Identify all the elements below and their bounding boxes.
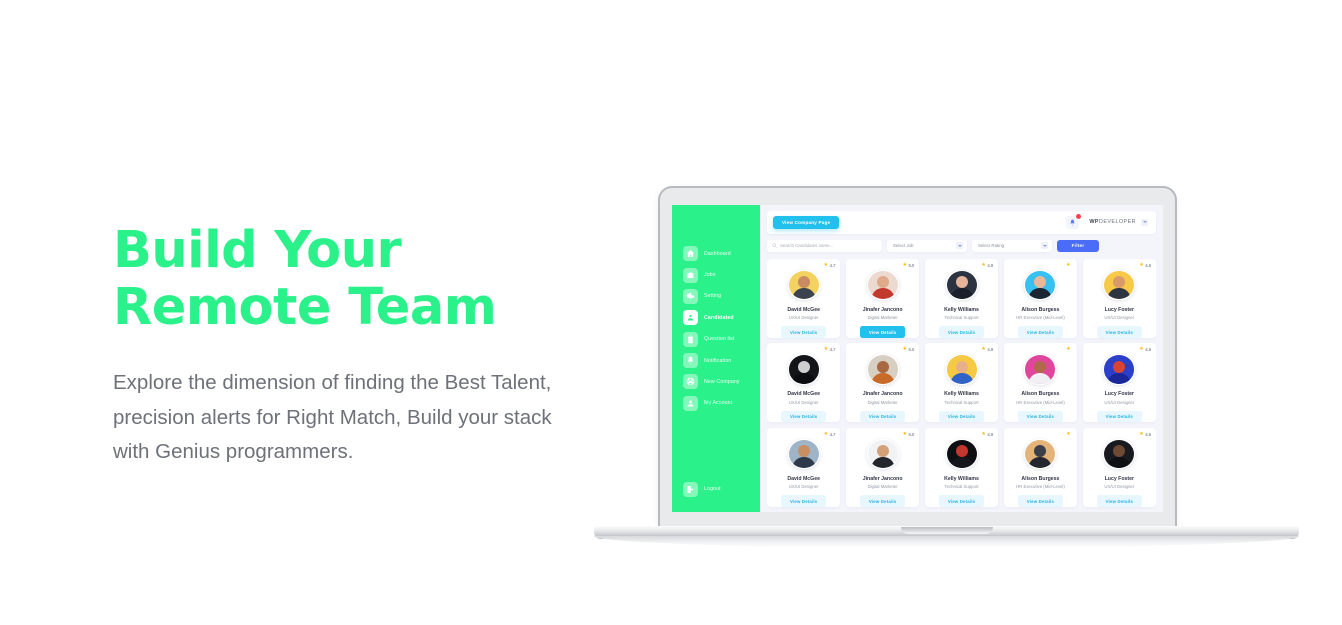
avatar xyxy=(788,270,820,300)
hero-section: Build Your Remote Team Explore the dimen… xyxy=(0,0,1342,625)
sidebar-item-notification[interactable]: Notification xyxy=(672,350,760,371)
topbar: View Company Page WPDEVELOPER xyxy=(767,211,1156,234)
notification-badge xyxy=(1075,213,1082,220)
user-menu[interactable]: WPDEVELOPER xyxy=(1089,219,1136,225)
candidate-role: UX/UI Designer xyxy=(789,400,819,405)
star-icon: ★ xyxy=(1139,347,1143,352)
candidate-name: David McGee xyxy=(787,307,820,313)
rating-badge: ★4.9 xyxy=(981,263,993,268)
candidate-card[interactable]: ★4.9Kelly WilliamsTechnical SupportView … xyxy=(925,259,998,338)
sidebar-item-new-company[interactable]: New Company xyxy=(672,371,760,392)
candidate-row: ★4.7David McGeeUX/UI DesignerView Detail… xyxy=(767,343,1156,422)
select-rating-value: Select Rating xyxy=(978,243,1004,248)
candidate-name: Lucy Foster xyxy=(1105,476,1134,482)
candidate-card[interactable]: ★4.9Kelly WilliamsTechnical SupportView … xyxy=(925,343,998,422)
rating-badge: ★ xyxy=(1066,432,1072,437)
rating-badge: ★5.0 xyxy=(903,347,915,352)
star-icon: ★ xyxy=(824,347,828,352)
sidebar-item-label: Jobs xyxy=(704,272,716,278)
avatar xyxy=(788,439,820,469)
candidate-card[interactable]: ★4.7David McGeeUX/UI DesignerView Detail… xyxy=(767,428,840,507)
rating-value: 4.9 xyxy=(987,263,993,268)
sidebar-item-setting[interactable]: Setting xyxy=(672,286,760,307)
candidate-card[interactable]: ★4.7David McGeeUX/UI DesignerView Detail… xyxy=(767,343,840,422)
bell-icon xyxy=(683,353,698,368)
search-icon xyxy=(772,243,777,248)
avatar xyxy=(867,439,899,469)
sidebar-item-dashboard[interactable]: Dashboard xyxy=(672,243,760,264)
candidate-role: Digital Marketer xyxy=(868,400,898,405)
filter-bar: Search Candidates name... Select Job Sel… xyxy=(767,240,1156,252)
avatar xyxy=(867,354,899,384)
view-company-page-button[interactable]: View Company Page xyxy=(773,216,839,229)
candidate-role: UX/UI Designer xyxy=(1104,484,1134,489)
rating-badge: ★4.7 xyxy=(824,347,836,352)
avatar xyxy=(1024,439,1056,469)
candidate-name: Alison Burgess xyxy=(1021,476,1059,482)
view-details-button[interactable]: View Details xyxy=(939,326,984,338)
view-details-button[interactable]: View Details xyxy=(860,326,905,338)
candidate-card[interactable]: ★5.0Jinafer JanconoDigital MarketerView … xyxy=(846,343,919,422)
globe-icon xyxy=(683,374,698,389)
notification-bell-button[interactable] xyxy=(1066,216,1079,229)
candidate-card[interactable]: ★4.6Lucy FosterUX/UI DesignerView Detail… xyxy=(1083,343,1156,422)
avatar xyxy=(1103,354,1135,384)
rating-value: 4.7 xyxy=(830,432,836,437)
sidebar: DashboardJobsSettingCandidatedQuestion l… xyxy=(672,205,760,512)
users-icon xyxy=(683,310,698,325)
view-details-button[interactable]: View Details xyxy=(939,495,984,507)
candidate-role: Technical Support xyxy=(944,484,978,489)
avatar xyxy=(946,439,978,469)
rating-value: 4.6 xyxy=(1145,263,1151,268)
candidate-name: Kelly Williams xyxy=(944,391,979,397)
candidate-role: UX/UI Designer xyxy=(789,484,819,489)
candidate-name: Jinafer Jancono xyxy=(863,476,903,482)
candidate-card[interactable]: ★5.0Jinafer JanconoDigital MarketerView … xyxy=(846,259,919,338)
candidate-role: HR Executive (Mid-Level) xyxy=(1016,315,1065,320)
page-title: Build Your Remote Team xyxy=(113,222,583,336)
sidebar-item-logout[interactable]: Logout xyxy=(672,479,760,500)
star-icon: ★ xyxy=(1066,263,1070,268)
star-icon: ★ xyxy=(903,432,907,437)
rating-badge: ★4.9 xyxy=(981,347,993,352)
laptop-mockup: DashboardJobsSettingCandidatedQuestion l… xyxy=(594,186,1299,551)
user-icon xyxy=(683,396,698,411)
candidate-name: Alison Burgess xyxy=(1021,307,1059,313)
rating-badge: ★4.6 xyxy=(1139,263,1151,268)
candidate-name: David McGee xyxy=(787,391,820,397)
candidate-name: Lucy Foster xyxy=(1105,307,1134,313)
candidate-role: Technical Support xyxy=(944,315,978,320)
sidebar-item-jobs[interactable]: Jobs xyxy=(672,264,760,285)
sidebar-item-my-account[interactable]: My Account xyxy=(672,393,760,414)
chevron-down-icon[interactable] xyxy=(1141,219,1148,226)
star-icon: ★ xyxy=(903,347,907,352)
candidate-role: UX/UI Designer xyxy=(1104,400,1134,405)
view-details-button[interactable]: View Details xyxy=(939,411,984,423)
candidate-name: David McGee xyxy=(787,476,820,482)
main-content: View Company Page WPDEVELOPER xyxy=(760,205,1163,512)
avatar xyxy=(788,354,820,384)
star-icon: ★ xyxy=(1066,432,1070,437)
chevron-down-icon xyxy=(1041,242,1048,249)
candidate-role: UX/UI Designer xyxy=(1104,315,1134,320)
star-icon: ★ xyxy=(903,263,907,268)
rating-badge: ★ xyxy=(1066,347,1072,352)
candidate-card[interactable]: ★4.9Kelly WilliamsTechnical SupportView … xyxy=(925,428,998,507)
star-icon: ★ xyxy=(981,432,985,437)
avatar xyxy=(946,270,978,300)
star-icon: ★ xyxy=(981,347,985,352)
candidate-role: Digital Marketer xyxy=(868,315,898,320)
view-details-button[interactable]: View Details xyxy=(1097,326,1142,338)
sidebar-item-label: Candidated xyxy=(704,315,734,321)
star-icon: ★ xyxy=(1066,347,1070,352)
avatar xyxy=(867,270,899,300)
filter-button[interactable]: Filter xyxy=(1057,240,1099,252)
star-icon: ★ xyxy=(981,263,985,268)
chevron-down-icon xyxy=(956,242,963,249)
rating-badge: ★5.0 xyxy=(903,263,915,268)
rating-badge: ★4.6 xyxy=(1139,347,1151,352)
hero-copy: Build Your Remote Team Explore the dimen… xyxy=(113,222,583,470)
rating-badge: ★4.7 xyxy=(824,432,836,437)
view-details-button[interactable]: View Details xyxy=(781,411,826,423)
rating-badge: ★4.9 xyxy=(981,432,993,437)
view-details-button[interactable]: View Details xyxy=(781,326,826,338)
candidate-name: Kelly Williams xyxy=(944,476,979,482)
search-input[interactable]: Search Candidates name... xyxy=(767,240,882,252)
candidate-role: UX/UI Designer xyxy=(789,315,819,320)
view-details-button[interactable]: View Details xyxy=(1097,411,1142,423)
sidebar-item-label: My Account xyxy=(704,400,732,406)
rating-badge: ★4.6 xyxy=(1139,432,1151,437)
candidate-grid: ★4.7David McGeeUX/UI DesignerView Detail… xyxy=(767,259,1156,512)
candidate-card[interactable]: ★4.6Lucy FosterUX/UI DesignerView Detail… xyxy=(1083,428,1156,507)
avatar xyxy=(1024,270,1056,300)
candidate-name: Alison Burgess xyxy=(1021,391,1059,397)
candidate-role: HR Executive (Mid-Level) xyxy=(1016,484,1065,489)
sidebar-spacer xyxy=(672,414,760,479)
sidebar-item-candidated[interactable]: Candidated xyxy=(672,307,760,328)
rating-value: 5.0 xyxy=(908,432,914,437)
laptop-lid: DashboardJobsSettingCandidatedQuestion l… xyxy=(658,186,1177,526)
avatar xyxy=(1103,270,1135,300)
select-rating-dropdown[interactable]: Select Rating xyxy=(972,240,1052,252)
candidate-name: Kelly Williams xyxy=(944,307,979,313)
hero-description: Explore the dimension of finding the Bes… xyxy=(113,366,565,470)
sidebar-item-label: New Company xyxy=(704,379,740,385)
candidate-card[interactable]: ★4.7David McGeeUX/UI DesignerView Detail… xyxy=(767,259,840,338)
view-details-button[interactable]: View Details xyxy=(1097,495,1142,507)
rating-value: 4.6 xyxy=(1145,432,1151,437)
rating-badge: ★5.0 xyxy=(903,432,915,437)
view-details-button[interactable]: View Details xyxy=(1018,411,1063,423)
candidate-role: Technical Support xyxy=(944,400,978,405)
sidebar-item-label: Logout xyxy=(704,486,721,492)
view-details-button[interactable]: View Details xyxy=(1018,326,1063,338)
laptop-base-notch xyxy=(901,527,993,534)
user-name-prefix: WP xyxy=(1089,219,1099,225)
candidate-role: HR Executive (Mid-Level) xyxy=(1016,400,1065,405)
rating-value: 4.7 xyxy=(830,347,836,352)
select-job-dropdown[interactable]: Select Job xyxy=(887,240,967,252)
sidebar-item-question-list[interactable]: Question list xyxy=(672,329,760,350)
sidebar-item-label: Dashboard xyxy=(704,251,731,257)
rating-value: 5.0 xyxy=(908,347,914,352)
bell-icon xyxy=(1069,219,1076,226)
avatar xyxy=(1103,439,1135,469)
candidate-card[interactable]: ★Alison BurgessHR Executive (Mid-Level)V… xyxy=(1004,343,1077,422)
sidebar-item-label: Setting xyxy=(704,293,721,299)
candidate-card[interactable]: ★4.6Lucy FosterUX/UI DesignerView Detail… xyxy=(1083,259,1156,338)
rating-value: 5.0 xyxy=(908,263,914,268)
star-icon: ★ xyxy=(1139,432,1143,437)
laptop-screen: DashboardJobsSettingCandidatedQuestion l… xyxy=(672,205,1163,512)
search-placeholder: Search Candidates name... xyxy=(780,243,833,248)
view-details-button[interactable]: View Details xyxy=(1018,495,1063,507)
candidate-card[interactable]: ★Alison BurgessHR Executive (Mid-Level)V… xyxy=(1004,259,1077,338)
avatar xyxy=(946,354,978,384)
clipboard-icon xyxy=(683,332,698,347)
home-icon xyxy=(683,246,698,261)
candidate-name: Jinafer Jancono xyxy=(863,391,903,397)
rating-badge: ★ xyxy=(1066,263,1072,268)
star-icon: ★ xyxy=(824,263,828,268)
dashboard-app: DashboardJobsSettingCandidatedQuestion l… xyxy=(672,205,1163,512)
briefcase-icon xyxy=(683,268,698,283)
candidate-name: Jinafer Jancono xyxy=(863,307,903,313)
sidebar-item-label: Notification xyxy=(704,358,731,364)
rating-value: 4.9 xyxy=(987,347,993,352)
candidate-card[interactable]: ★Alison BurgessHR Executive (Mid-Level)V… xyxy=(1004,428,1077,507)
gear-icon xyxy=(683,289,698,304)
candidate-row: ★4.7David McGeeUX/UI DesignerView Detail… xyxy=(767,428,1156,507)
rating-value: 4.7 xyxy=(830,263,836,268)
rating-value: 4.6 xyxy=(1145,347,1151,352)
rating-badge: ★4.7 xyxy=(824,263,836,268)
candidate-row: ★4.7David McGeeUX/UI DesignerView Detail… xyxy=(767,259,1156,338)
candidate-name: Lucy Foster xyxy=(1105,391,1134,397)
candidate-role: Digital Marketer xyxy=(868,484,898,489)
laptop-base-lip xyxy=(594,536,1299,548)
view-details-button[interactable]: View Details xyxy=(781,495,826,507)
view-details-button[interactable]: View Details xyxy=(860,495,905,507)
candidate-card[interactable]: ★5.0Jinafer JanconoDigital MarketerView … xyxy=(846,428,919,507)
avatar xyxy=(1024,354,1056,384)
select-job-value: Select Job xyxy=(893,243,914,248)
view-details-button[interactable]: View Details xyxy=(860,411,905,423)
star-icon: ★ xyxy=(824,432,828,437)
sidebar-item-label: Question list xyxy=(704,336,735,342)
star-icon: ★ xyxy=(1139,263,1143,268)
user-name-suffix: DEVELOPER xyxy=(1099,219,1136,225)
logout-icon xyxy=(683,482,698,497)
rating-value: 4.9 xyxy=(987,432,993,437)
